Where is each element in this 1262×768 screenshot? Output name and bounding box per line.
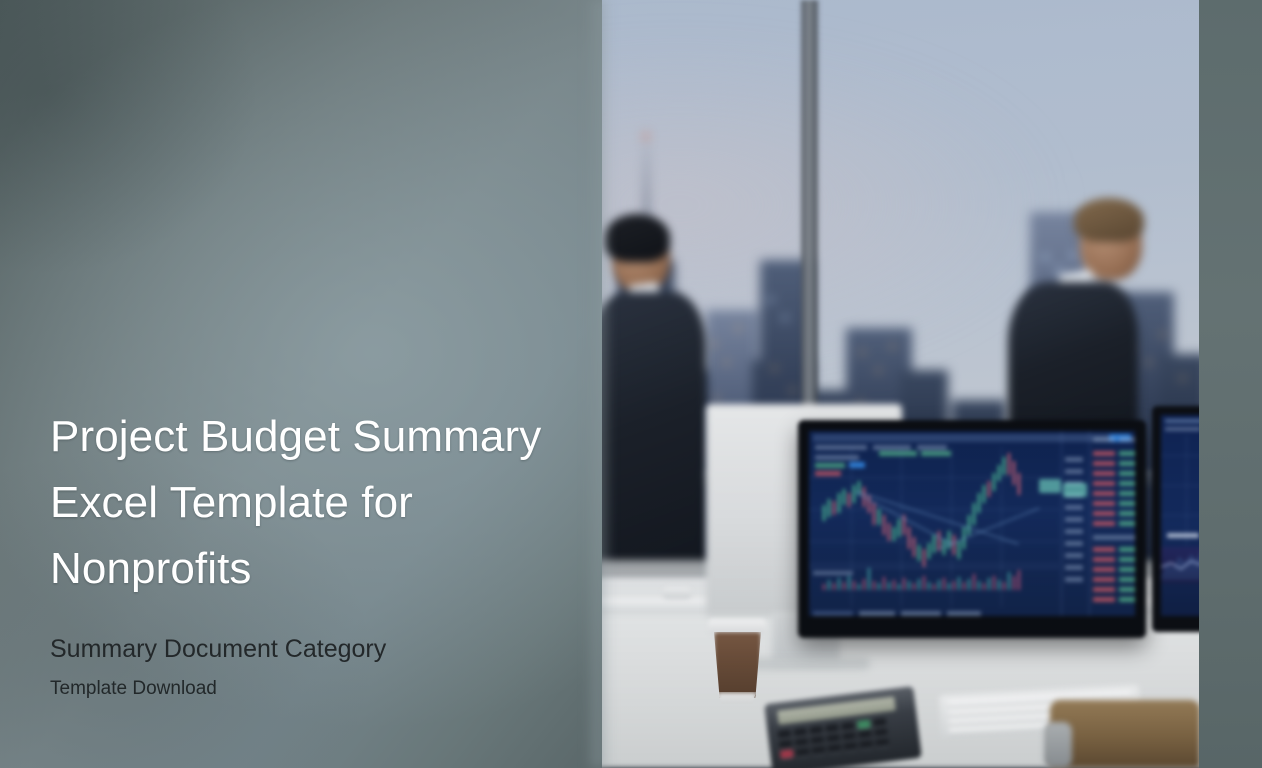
slide-subtitle: Summary Document Category [50, 634, 570, 664]
imac-base [742, 658, 870, 670]
presentation-slide: Project Budget Summary Excel Template fo… [0, 0, 1262, 768]
coffee-cup [714, 632, 761, 698]
coffee-cup-base [717, 692, 757, 704]
panel-edge-highlight [586, 0, 612, 768]
page-title: Project Budget Summary Excel Template fo… [50, 404, 570, 602]
right-panel-strip [1199, 0, 1262, 768]
slide-text-block: Project Budget Summary Excel Template fo… [50, 404, 570, 701]
office-chair [1050, 700, 1200, 768]
slide-meta: Template Download [50, 677, 570, 701]
calculator-keypad [778, 716, 906, 768]
monitor-bezel [798, 420, 1146, 638]
trading-monitor [798, 420, 1146, 638]
computer-mouse [662, 587, 692, 599]
office-chair-arm [1044, 722, 1072, 768]
